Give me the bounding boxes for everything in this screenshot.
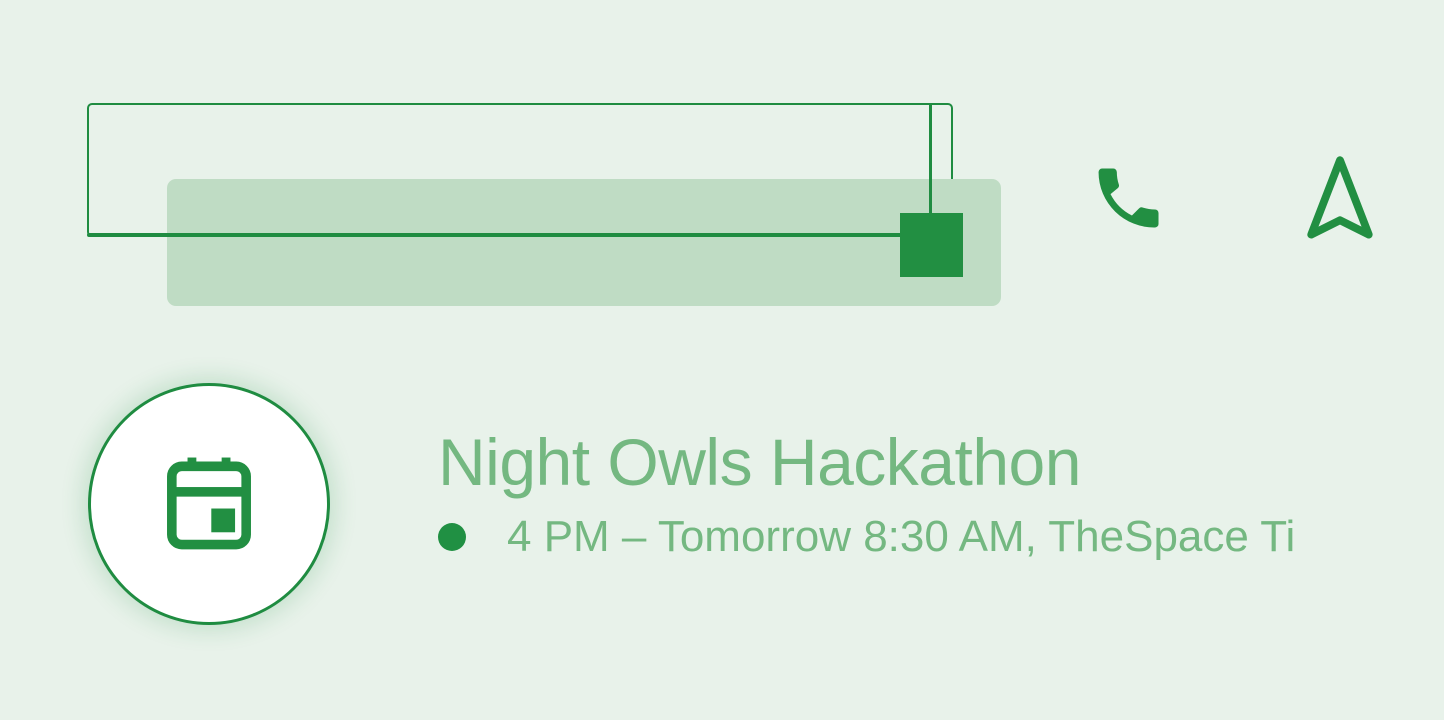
event-avatar[interactable] xyxy=(88,383,330,625)
event-subtitle: 4 PM – Tomorrow 8:30 AM, TheSpace Ti xyxy=(507,510,1295,564)
progress-knob-stem xyxy=(929,105,932,217)
event-title: Night Owls Hackathon xyxy=(438,422,1444,502)
navigation-arrow-icon xyxy=(1304,152,1376,249)
calendar-icon xyxy=(163,454,255,555)
progress-knob-handle[interactable] xyxy=(900,213,963,277)
screen-root: Night Owls Hackathon 4 PM – Tomorrow 8:3… xyxy=(0,0,1444,720)
call-button[interactable] xyxy=(1076,148,1180,252)
event-details: Night Owls Hackathon 4 PM – Tomorrow 8:3… xyxy=(438,422,1444,602)
progress-track-line xyxy=(87,233,907,237)
action-icon-group xyxy=(1070,148,1370,252)
navigate-button[interactable] xyxy=(1288,148,1392,252)
phone-icon xyxy=(1089,155,1167,246)
event-subtitle-row: 4 PM – Tomorrow 8:30 AM, TheSpace Ti xyxy=(438,510,1444,564)
progress-track-bar[interactable] xyxy=(167,179,1001,306)
status-dot xyxy=(438,523,466,551)
